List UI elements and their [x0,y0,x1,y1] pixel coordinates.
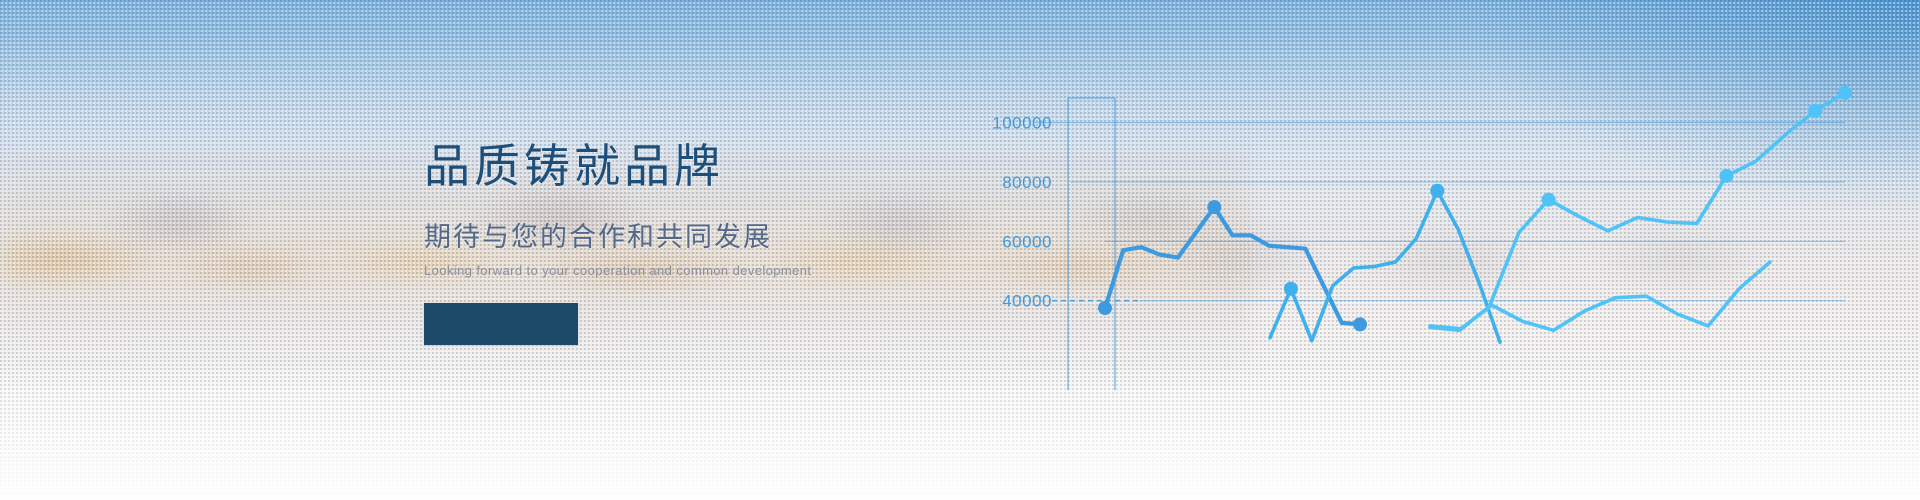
chart-y-tick-label: 80000 [1002,173,1052,192]
chart-data-point [1098,301,1112,315]
chart-gridlines [1035,123,1845,301]
banner-text-block: 品质铸就品牌 期待与您的合作和共同发展 Looking forward to y… [424,140,984,345]
chart-y-tick-label: 60000 [1002,232,1052,251]
hero-banner: 品质铸就品牌 期待与您的合作和共同发展 Looking forward to y… [0,0,1920,500]
chart-data-point [1838,86,1852,100]
chart-data-point [1719,169,1733,183]
chart-line-series-1 [1105,207,1360,324]
banner-headline: 品质铸就品牌 [424,140,984,193]
chart-axis-box [1068,98,1115,390]
chart-data-point [1284,282,1298,296]
chart-data-point [1207,200,1221,214]
chart-data-point [1808,104,1822,118]
chart-data-point [1542,193,1556,207]
line-chart: 400006000080000100000 [940,60,1860,440]
banner-subtitle-chinese: 期待与您的合作和共同发展 [424,215,984,254]
chart-y-tick-label: 100000 [992,114,1052,133]
chart-line-series-2 [1270,191,1500,342]
chart-y-axis-labels: 400006000080000100000 [992,114,1052,311]
chart-line-series-4 [1430,262,1770,330]
chart-line-series-3 [1430,93,1845,330]
chart-data-point [1353,317,1367,331]
chart-y-tick-label: 40000 [1002,292,1052,311]
chart-series-layer [1098,86,1852,342]
chart-data-point [1430,184,1444,198]
chart-svg: 400006000080000100000 [940,60,1860,440]
banner-subtitle-english: Looking forward to your cooperation and … [424,263,984,278]
banner-cta-button[interactable] [424,303,578,345]
